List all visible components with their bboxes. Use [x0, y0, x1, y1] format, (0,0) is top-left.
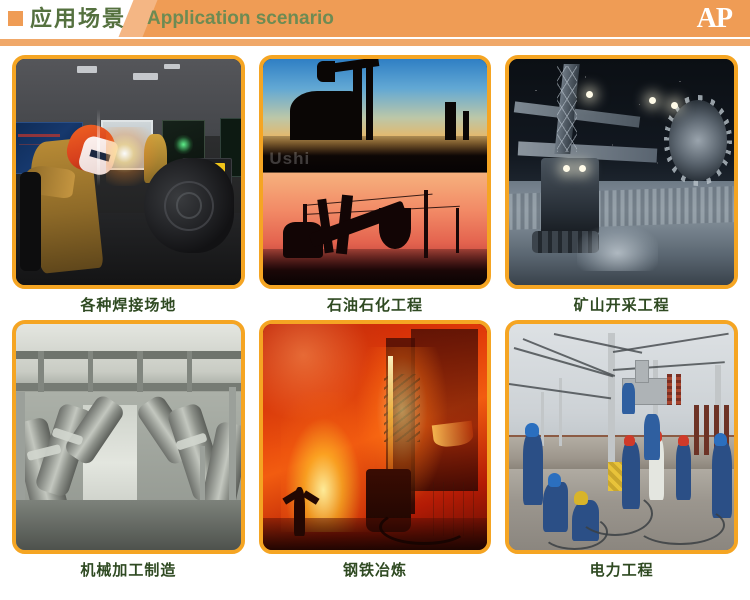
- scenario-card-machining[interactable]: [12, 320, 245, 554]
- scenario-cell-machining: 机械加工制造: [12, 320, 245, 585]
- scenario-cell-petrochemical: Ushi 石油石化工程: [259, 55, 492, 320]
- scenario-caption-mining: 矿山开采工程: [505, 289, 738, 320]
- page-title-en: Application scenario: [147, 6, 334, 32]
- scenario-cell-welding: 各种焊接场地: [12, 55, 245, 320]
- scenario-card-petrochemical[interactable]: Ushi: [259, 55, 492, 289]
- image-watermark: Ushi: [269, 149, 310, 169]
- scenario-caption-welding: 各种焊接场地: [12, 289, 245, 320]
- petrochemical-photo: Ushi: [263, 59, 488, 285]
- orange-square-icon: [8, 11, 23, 26]
- machining-photo: [16, 324, 241, 550]
- scenario-grid: 各种焊接场地: [0, 46, 750, 585]
- scenario-cell-mining: 矿山开采工程: [505, 55, 738, 320]
- scenario-card-welding[interactable]: [12, 55, 245, 289]
- scenario-card-power[interactable]: [505, 320, 738, 554]
- scenario-cell-power: 电力工程: [505, 320, 738, 585]
- scenario-card-steelmaking[interactable]: [259, 320, 492, 554]
- mining-photo: [509, 59, 734, 285]
- scenario-caption-power: 电力工程: [505, 554, 738, 585]
- page-header: 应用场景 Application scenario AP: [0, 0, 750, 37]
- scenario-cell-steelmaking: 钢铁冶炼: [259, 320, 492, 585]
- welding-photo: [16, 59, 241, 285]
- page-title-cn: 应用场景: [30, 4, 126, 33]
- power-photo: [509, 324, 734, 550]
- steelmaking-photo: [263, 324, 488, 550]
- scenario-caption-machining: 机械加工制造: [12, 554, 245, 585]
- scenario-caption-petrochemical: 石油石化工程: [259, 289, 492, 320]
- header-underbar: [0, 39, 750, 46]
- scenario-card-mining[interactable]: [505, 55, 738, 289]
- brand-logo: AP: [697, 3, 732, 34]
- scenario-caption-steelmaking: 钢铁冶炼: [259, 554, 492, 585]
